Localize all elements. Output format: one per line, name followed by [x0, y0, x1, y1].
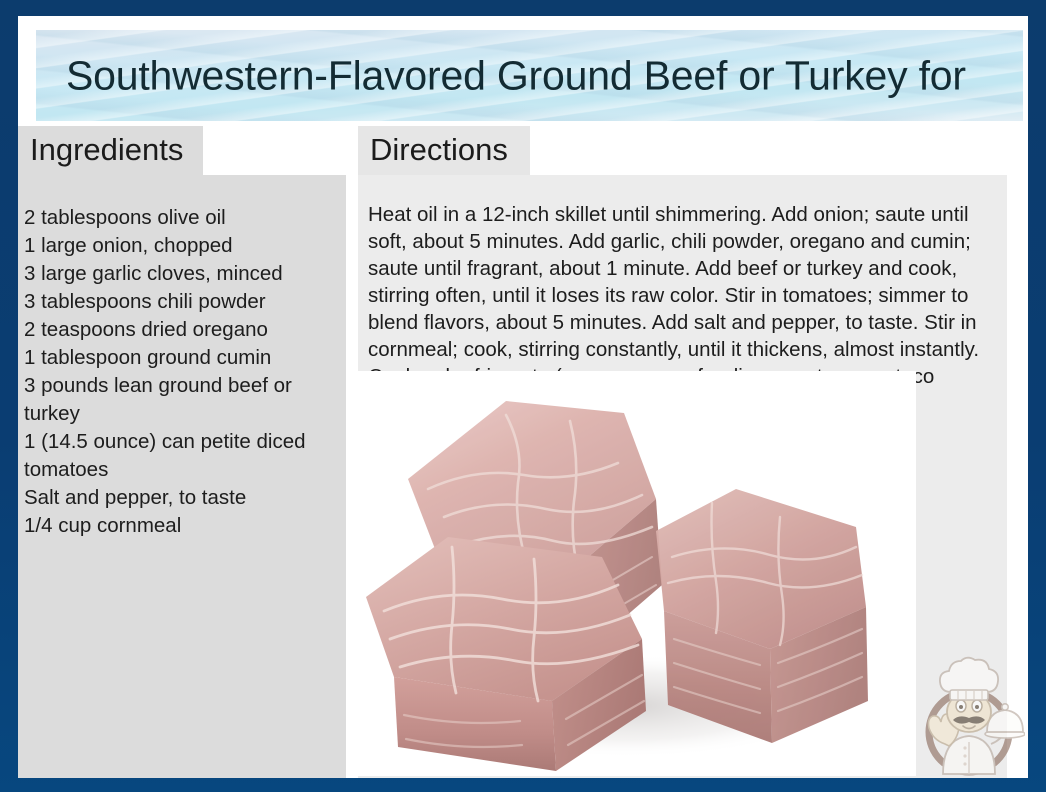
slide-canvas: Southwestern-Flavored Ground Beef or Tur…: [18, 16, 1028, 778]
list-item: 1/4 cup cornmeal: [24, 512, 336, 540]
page-title: Southwestern-Flavored Ground Beef or Tur…: [66, 55, 966, 96]
list-item: Salt and pepper, to taste: [24, 484, 336, 512]
list-item: 1 tablespoon ground cumin: [24, 344, 336, 372]
ingredients-list: 2 tablespoons olive oil 1 large onion, c…: [24, 204, 336, 540]
list-item: 1 large onion, chopped: [24, 232, 336, 260]
directions-tab: Directions: [358, 126, 530, 175]
ingredients-tab: Ingredients: [18, 126, 203, 175]
list-item: 3 pounds lean ground beef or turkey: [24, 372, 336, 428]
directions-heading: Directions: [370, 132, 508, 168]
title-banner: Southwestern-Flavored Ground Beef or Tur…: [36, 30, 1023, 121]
beef-cubes-illustration: [356, 371, 916, 776]
list-item: 1 (14.5 ounce) can petite diced tomatoes: [24, 428, 336, 484]
chef-logo-icon: [913, 644, 1025, 778]
ingredients-panel: 2 tablespoons olive oil 1 large onion, c…: [18, 175, 346, 778]
chef-mascot-logo: [913, 644, 1025, 778]
recipe-slide: Southwestern-Flavored Ground Beef or Tur…: [0, 0, 1046, 792]
ingredients-heading: Ingredients: [30, 132, 183, 168]
beef-cubes-photo: [356, 371, 916, 776]
list-item: 2 tablespoons olive oil: [24, 204, 336, 232]
list-item: 2 teaspoons dried oregano: [24, 316, 336, 344]
list-item: 3 tablespoons chili powder: [24, 288, 336, 316]
list-item: 3 large garlic cloves, minced: [24, 260, 336, 288]
